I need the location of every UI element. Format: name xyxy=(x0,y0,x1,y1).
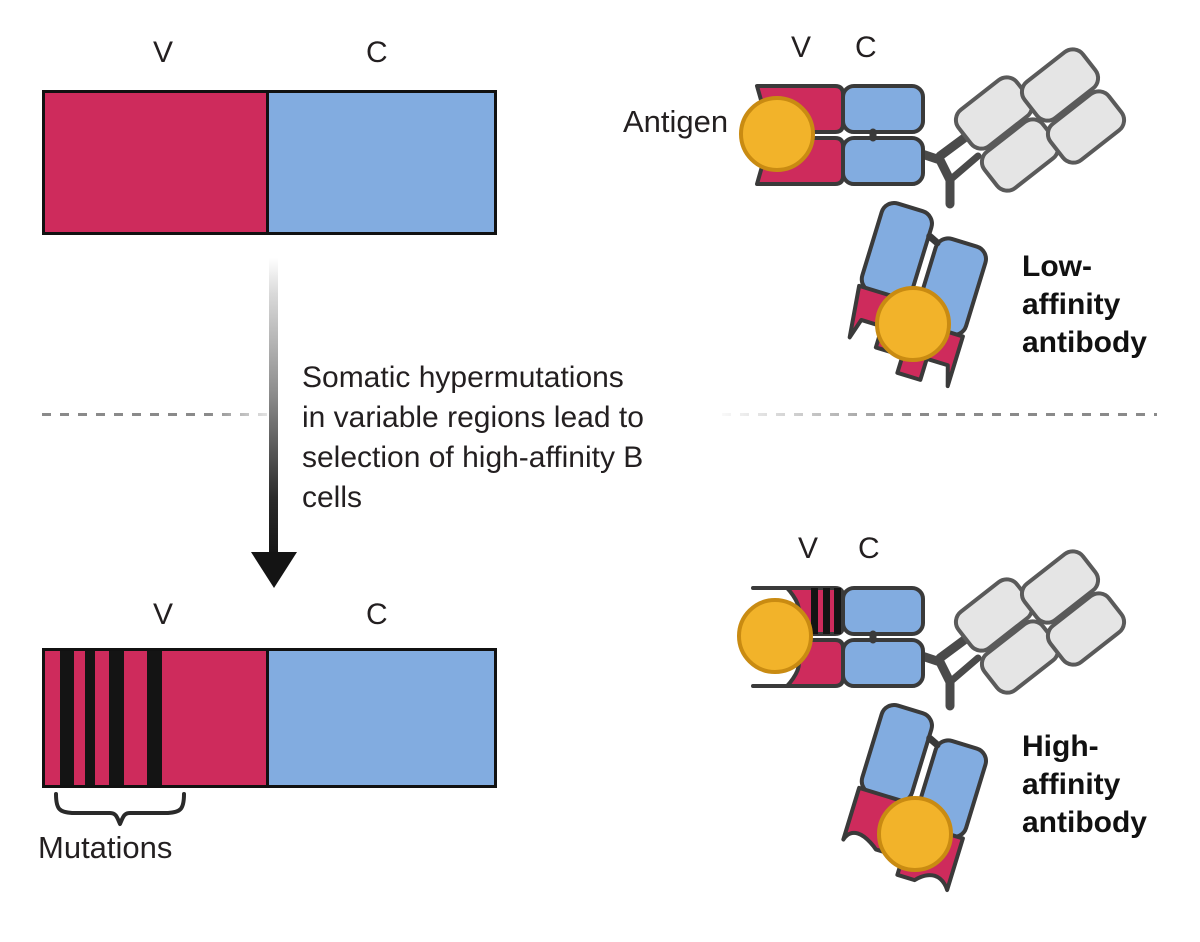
mutation-stripe-2 xyxy=(85,651,96,785)
mutation-stripe-1 xyxy=(60,651,74,785)
gene-bar-bottom-c-label: C xyxy=(366,600,388,630)
gene-bar-top-v-label: V xyxy=(153,38,173,68)
caption-low-line-1: Low- xyxy=(1022,248,1147,286)
antigen-circle-lower-high xyxy=(879,798,951,870)
process-arrow-shaft xyxy=(269,258,278,558)
process-arrow-head xyxy=(251,552,297,588)
mutation-stripe-4 xyxy=(147,651,162,785)
mutation-stripe-group xyxy=(45,651,494,785)
gene-bar-top-constant-segment xyxy=(266,93,494,232)
antibody-high-upper-c-domain xyxy=(843,588,923,634)
caption-low-line-2: affinity xyxy=(1022,286,1147,324)
annotation-line-2: in variable regions lead to xyxy=(302,398,702,438)
annotation-line-4: cells xyxy=(302,478,702,518)
antigen-circle-lower xyxy=(877,288,949,360)
gene-bar-top xyxy=(42,90,497,235)
annotation-line-3: selection of high-affinity B xyxy=(302,438,702,478)
antibody-low-lower-c-domain xyxy=(843,138,923,184)
annotation-line-1: Somatic hypermutations xyxy=(302,358,702,398)
antibody-high-affinity-caption: High- affinity antibody xyxy=(1022,728,1147,842)
gene-bar-bottom xyxy=(42,648,497,788)
mutations-brace-label: Mutations xyxy=(38,832,172,863)
caption-high-line-2: affinity xyxy=(1022,766,1147,804)
antibody-high-mutation-stripes xyxy=(811,588,841,634)
caption-high-line-3: antibody xyxy=(1022,804,1147,842)
antigen-circle-upper xyxy=(741,98,813,170)
antibody-low-upper-c-domain xyxy=(843,86,923,132)
antigen-label: Antigen xyxy=(623,106,728,137)
process-annotation-text: Somatic hypermutations in variable regio… xyxy=(302,358,702,518)
gene-bar-top-c-label: C xyxy=(366,38,388,68)
divider-dashed-right xyxy=(722,413,1157,416)
antigen-circle-upper-high xyxy=(739,600,811,672)
antibody-high-lower-c-domain xyxy=(843,640,923,686)
antibody-low-affinity-caption: Low- affinity antibody xyxy=(1022,248,1147,362)
figure-canvas: V C Somatic hypermutations in variable r… xyxy=(0,0,1200,942)
caption-high-line-1: High- xyxy=(1022,728,1147,766)
divider-dashed-left xyxy=(42,413,274,416)
gene-bar-bottom-v-label: V xyxy=(153,600,173,630)
caption-low-line-3: antibody xyxy=(1022,324,1147,362)
mutation-stripe-3 xyxy=(109,651,124,785)
gene-bar-top-variable-segment xyxy=(45,93,266,232)
